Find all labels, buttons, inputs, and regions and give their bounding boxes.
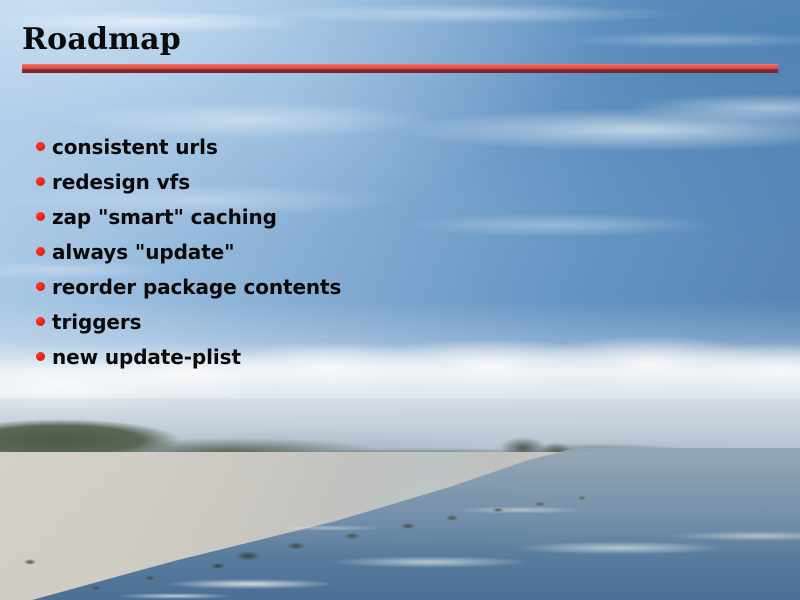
list-item-label: reorder package contents [52, 276, 341, 298]
list-item: always "update" [36, 234, 341, 269]
list-item: zap "smart" caching [36, 199, 341, 234]
rule-shadow-band [22, 69, 778, 73]
list-item: new update-plist [36, 339, 341, 374]
bullet-dot-icon [36, 177, 45, 186]
bullet-dot-icon [36, 282, 45, 291]
bullet-dot-icon [36, 212, 45, 221]
slide-content: Roadmap consistent urls redesign vfs zap… [0, 0, 800, 600]
list-item-label: consistent urls [52, 136, 218, 158]
list-item-label: new update-plist [52, 346, 241, 368]
bullet-dot-icon [36, 317, 45, 326]
roadmap-bullet-list: consistent urls redesign vfs zap "smart"… [36, 129, 341, 374]
list-item-label: zap "smart" caching [52, 206, 277, 228]
list-item: triggers [36, 304, 341, 339]
presentation-slide: Roadmap consistent urls redesign vfs zap… [0, 0, 800, 600]
list-item-label: always "update" [52, 241, 234, 263]
list-item: consistent urls [36, 129, 341, 164]
bullet-dot-icon [36, 352, 45, 361]
list-item: reorder package contents [36, 269, 341, 304]
list-item-label: triggers [52, 311, 141, 333]
bullet-dot-icon [36, 142, 45, 151]
list-item: redesign vfs [36, 164, 341, 199]
bullet-dot-icon [36, 247, 45, 256]
list-item-label: redesign vfs [52, 171, 190, 193]
title-underline-rule [22, 64, 778, 73]
slide-title: Roadmap [22, 22, 181, 58]
